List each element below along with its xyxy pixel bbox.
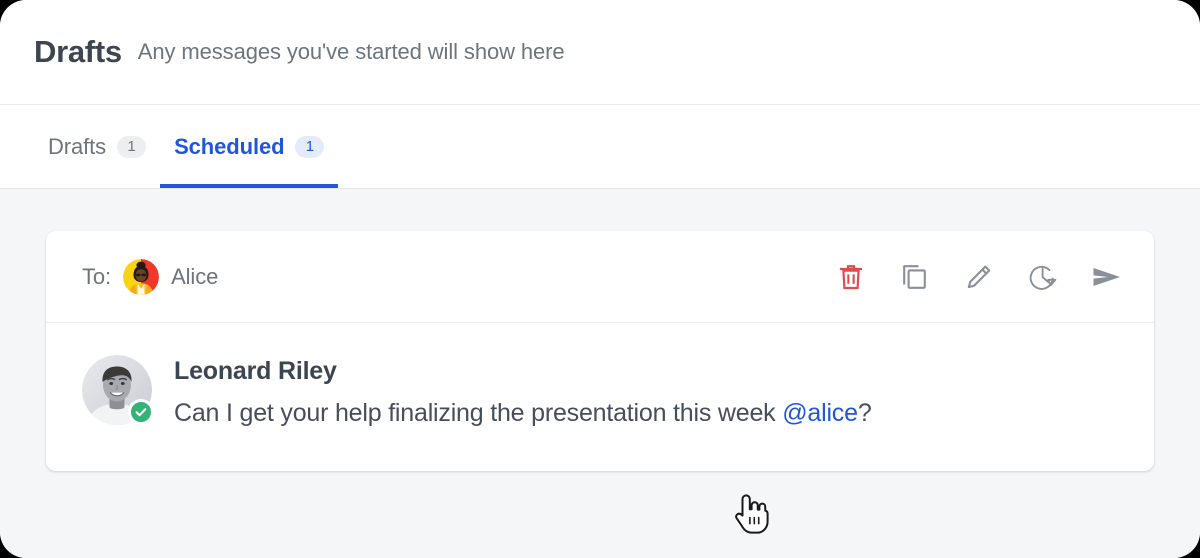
- tab-scheduled[interactable]: Scheduled 1: [160, 105, 338, 188]
- message-text-after: ?: [858, 399, 872, 427]
- edit-icon[interactable]: [962, 260, 996, 294]
- send-icon[interactable]: [1090, 260, 1124, 294]
- scheduled-message-card[interactable]: To:: [46, 231, 1154, 471]
- delete-icon[interactable]: [834, 260, 868, 294]
- tab-drafts[interactable]: Drafts 1: [34, 105, 160, 188]
- recipient: To:: [82, 259, 218, 295]
- alice-avatar: [123, 259, 159, 295]
- tab-scheduled-badge: 1: [295, 136, 324, 158]
- app-window: Drafts Any messages you've started will …: [0, 0, 1200, 558]
- page-header: Drafts Any messages you've started will …: [0, 0, 1200, 105]
- duplicate-icon[interactable]: [898, 260, 932, 294]
- tab-drafts-label: Drafts: [48, 134, 106, 160]
- recipient-name: Alice: [171, 264, 218, 290]
- card-header: To:: [46, 231, 1154, 323]
- sender-name: Leonard Riley: [174, 357, 872, 386]
- page-subtitle: Any messages you've started will show he…: [138, 39, 565, 65]
- content-area: To:: [0, 189, 1200, 558]
- tab-scheduled-label: Scheduled: [174, 134, 284, 160]
- tab-bar: Drafts 1 Scheduled 1: [0, 105, 1200, 189]
- tab-drafts-badge: 1: [117, 136, 146, 158]
- mouse-cursor-pointing-hand: [733, 492, 769, 536]
- mention-link[interactable]: @alice: [782, 399, 858, 427]
- card-body: Leonard Riley Can I get your help finali…: [46, 323, 1154, 471]
- to-label: To:: [82, 264, 111, 290]
- online-status-badge: [128, 399, 154, 425]
- sender-avatar-wrap: [82, 355, 152, 425]
- reschedule-icon[interactable]: [1026, 260, 1060, 294]
- page-title: Drafts: [34, 34, 122, 70]
- message-body: Can I get your help finalizing the prese…: [174, 398, 872, 429]
- message-text-block: Leonard Riley Can I get your help finali…: [174, 355, 872, 429]
- card-actions: [834, 260, 1124, 294]
- message-text-before: Can I get your help finalizing the prese…: [174, 399, 782, 427]
